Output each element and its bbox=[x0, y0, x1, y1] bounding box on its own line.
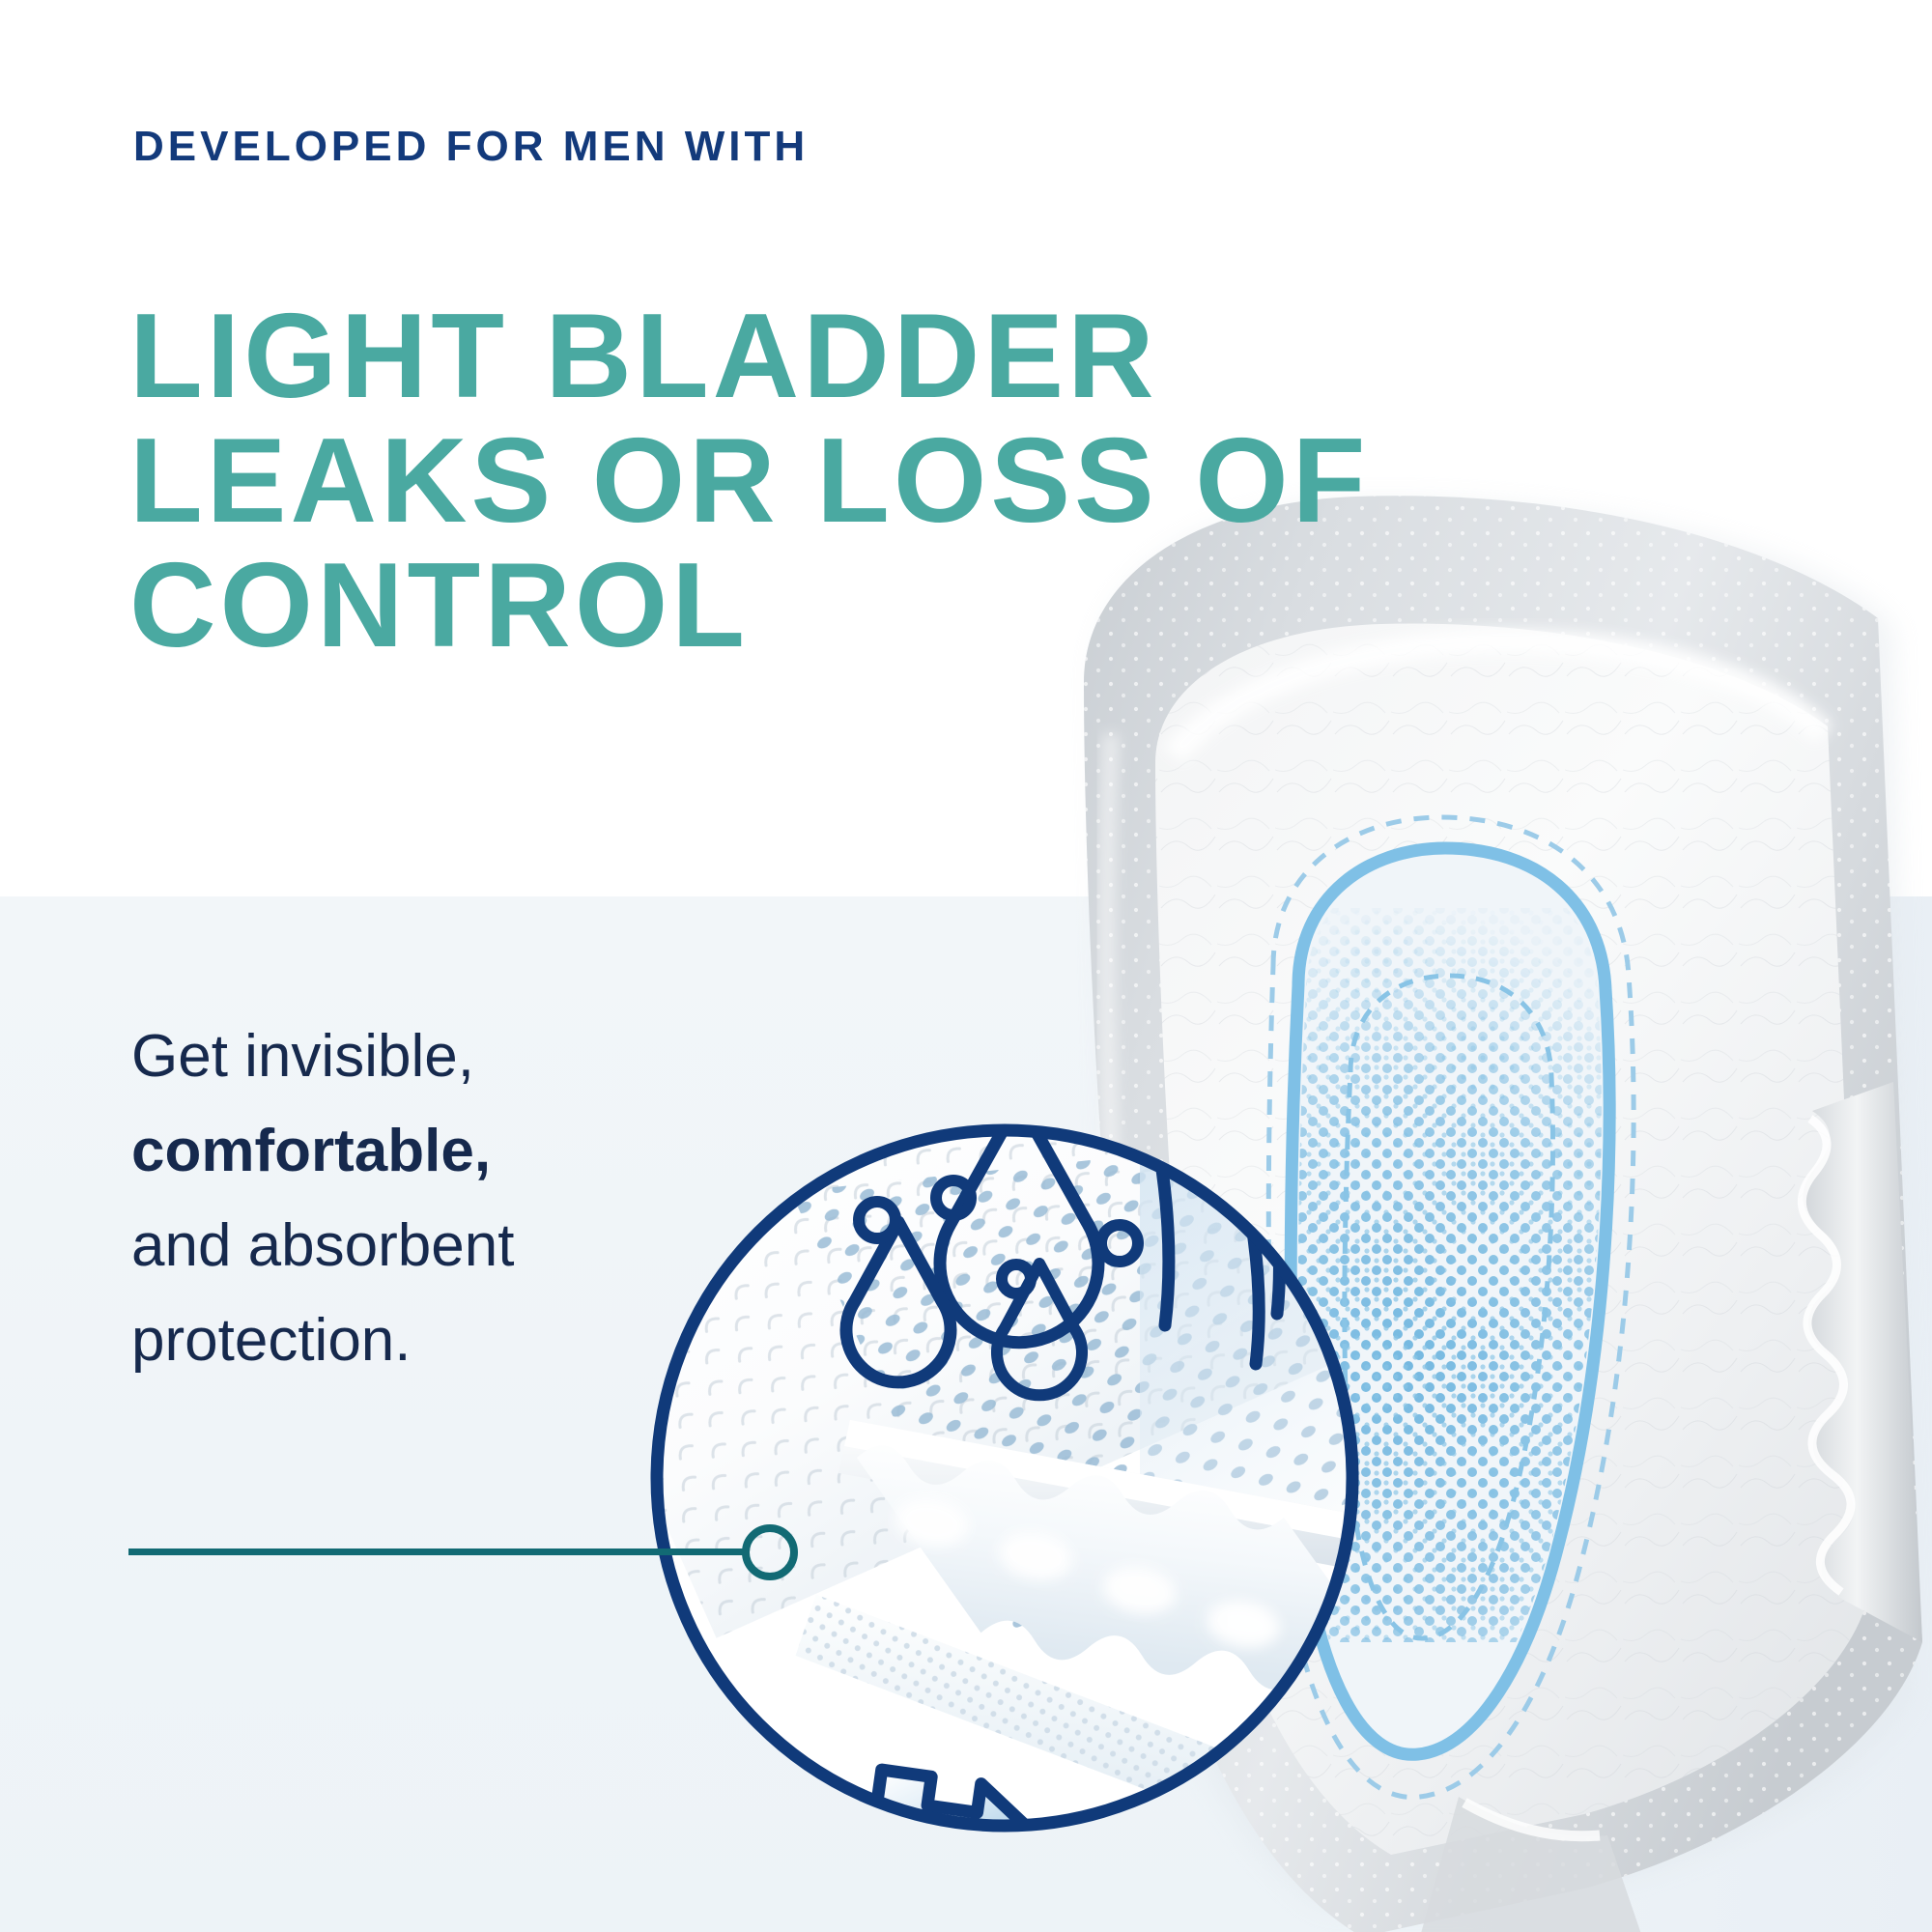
body-line-1: Get invisible, bbox=[131, 1009, 634, 1104]
body-line-2: comfortable, bbox=[131, 1104, 634, 1199]
callout-leader-ring bbox=[742, 1524, 798, 1580]
body-copy: Get invisible, comfortable, and absorben… bbox=[131, 1009, 634, 1388]
eyebrow-text: DEVELOPED FOR MEN WITH bbox=[133, 126, 809, 168]
headline-line-1: LIGHT BLADDER bbox=[129, 295, 1385, 419]
product-banner: DEVELOPED FOR MEN WITH LIGHT BLADDER LEA… bbox=[0, 0, 1932, 1932]
body-line-4: protection. bbox=[131, 1293, 634, 1388]
page-title: LIGHT BLADDER LEAKS OR LOSS OF CONTROL bbox=[129, 295, 1385, 668]
body-line-3: and absorbent bbox=[131, 1199, 634, 1293]
headline-line-2: LEAKS OR LOSS OF bbox=[129, 419, 1385, 544]
headline-line-3: CONTROL bbox=[129, 544, 1385, 668]
callout-leader-line bbox=[128, 1548, 747, 1555]
